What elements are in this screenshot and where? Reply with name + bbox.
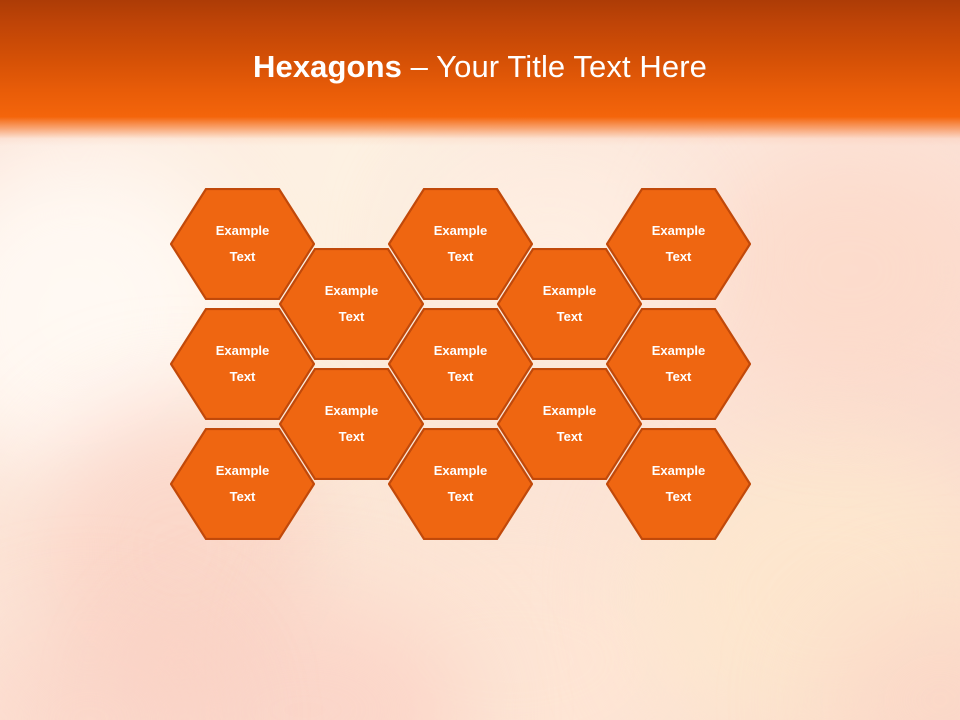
hexagon-hex-c5-r2[interactable]: Example Text <box>606 308 751 420</box>
hexagon-shape <box>606 188 751 300</box>
hexagon-hex-c5-r1[interactable]: Example Text <box>606 188 751 300</box>
hexagon-hex-c5-r3[interactable]: Example Text <box>606 428 751 540</box>
hexagon-shape <box>606 428 751 540</box>
hexagon-shape <box>606 308 751 420</box>
hexagon-honeycomb-diagram: Example TextExample TextExample TextExam… <box>0 0 960 720</box>
slide-canvas: Hexagons – Your Title Text Here Example … <box>0 0 960 720</box>
